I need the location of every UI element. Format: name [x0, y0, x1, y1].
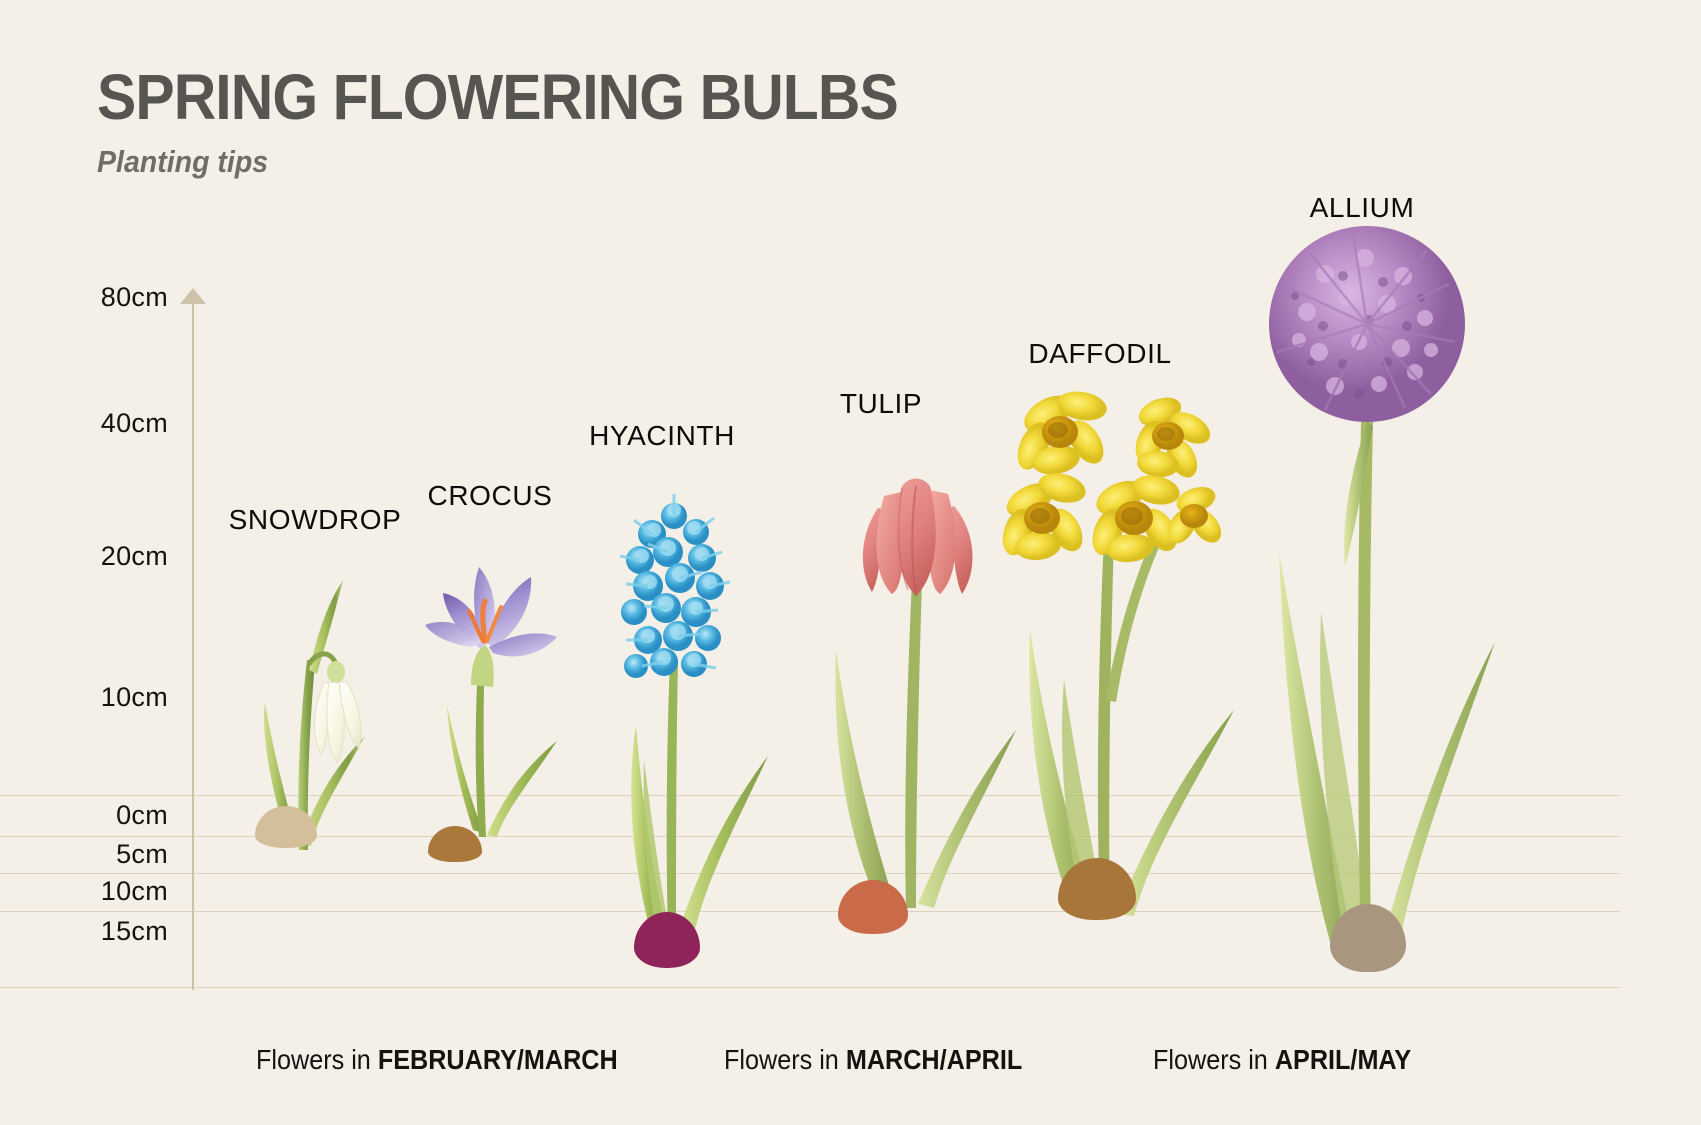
- plant-snowdrop: [225, 540, 405, 870]
- tulip-stem: [905, 580, 922, 908]
- plant-hyacinth: [590, 460, 790, 940]
- axis-tick-20cm: 20cm: [101, 541, 168, 572]
- label-tulip: TULIP: [840, 388, 922, 420]
- plant-daffodil: [1000, 380, 1240, 920]
- crocus-calyx: [471, 645, 494, 687]
- vertical-axis: [192, 300, 194, 990]
- axis-tick-10cm: 10cm: [101, 682, 168, 713]
- footer-months-2: MARCH/APRIL: [846, 1044, 1022, 1075]
- axis-tick-40cm: 40cm: [101, 408, 168, 439]
- label-allium: ALLIUM: [1310, 192, 1415, 224]
- daffodil-flower-a: [1011, 388, 1111, 478]
- plant-tulip: [810, 430, 1030, 910]
- footer-months-1: FEBRUARY/MARCH: [378, 1044, 618, 1075]
- footer-caption-feb-mar: Flowers in FEBRUARY/MARCH: [256, 1044, 618, 1076]
- daffodil-flower-c: [1000, 469, 1089, 563]
- allium-stem: [1358, 422, 1373, 958]
- label-hyacinth: HYACINTH: [589, 420, 735, 452]
- crocus-leaf-right: [487, 741, 557, 837]
- footer-months-3: APRIL/MAY: [1275, 1044, 1411, 1075]
- snowdrop-ovary: [327, 661, 345, 683]
- hyacinth-florets: [620, 494, 730, 678]
- tulip-leaf-left: [835, 650, 894, 902]
- daffodil-flower-b: [1130, 392, 1215, 482]
- label-snowdrop: SNOWDROP: [229, 504, 402, 536]
- plant-allium: [1255, 222, 1505, 962]
- label-daffodil: DAFFODIL: [1028, 338, 1171, 370]
- axis-tick-depth-10cm: 10cm: [101, 876, 168, 907]
- daffodil-corona-e: [1180, 504, 1208, 528]
- tulip-petal-center: [896, 479, 936, 597]
- page-title: SPRING FLOWERING BULBS: [97, 60, 898, 134]
- infographic-canvas: SPRING FLOWERING BULBS Planting tips 80c…: [0, 0, 1701, 1125]
- axis-tick-depth-15cm: 15cm: [101, 916, 168, 947]
- footer-caption-mar-apr: Flowers in MARCH/APRIL: [724, 1044, 1022, 1076]
- hyacinth-leaf-right: [678, 756, 768, 934]
- daffodil-flower-d: [1087, 471, 1184, 564]
- footer-caption-apr-may: Flowers in APRIL/MAY: [1153, 1044, 1411, 1076]
- crocus-stamen-1: [483, 601, 485, 641]
- plant-crocus: [405, 545, 585, 845]
- axis-tick-0cm: 0cm: [116, 800, 168, 831]
- page-subtitle: Planting tips: [97, 144, 268, 180]
- footer-prefix-1: Flowers in: [256, 1044, 378, 1075]
- label-crocus: CROCUS: [428, 480, 553, 512]
- footer-prefix-3: Flowers in: [1153, 1044, 1275, 1075]
- crocus-stem: [476, 685, 486, 837]
- allium-leaf-right: [1379, 642, 1495, 956]
- axis-tick-80cm: 80cm: [101, 282, 168, 313]
- axis-tick-depth-5cm: 5cm: [116, 839, 168, 870]
- footer-prefix-2: Flowers in: [724, 1044, 846, 1075]
- gridline-bottom: [0, 987, 1620, 988]
- hyacinth-stem: [667, 660, 678, 938]
